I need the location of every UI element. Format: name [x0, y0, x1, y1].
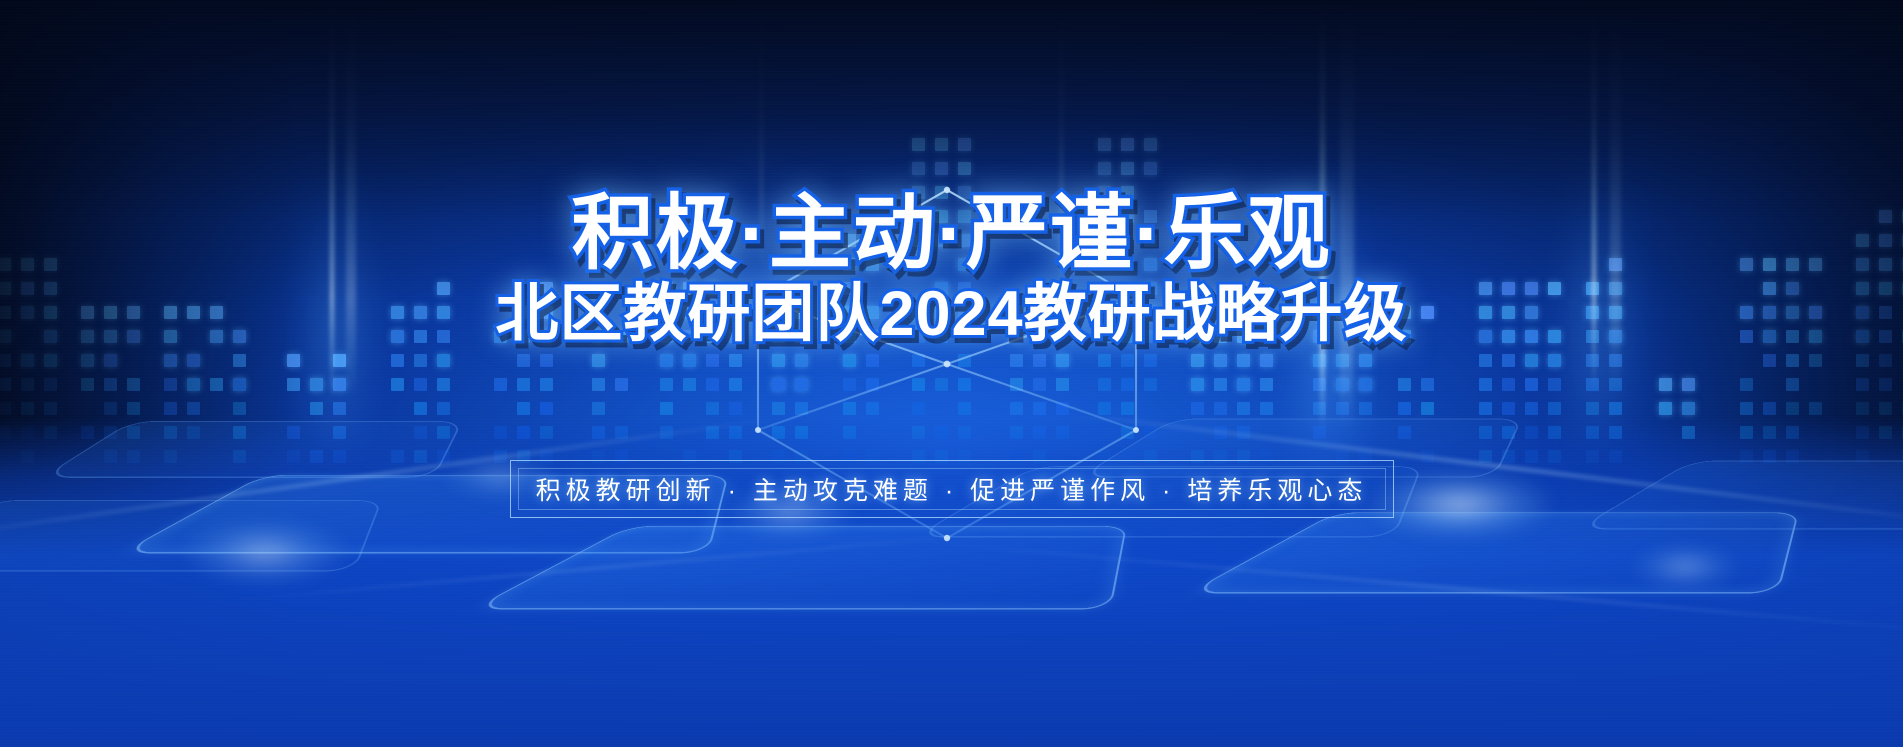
building-window — [1609, 306, 1622, 319]
building-window — [1809, 402, 1822, 415]
building-window — [1879, 330, 1892, 343]
building-window — [414, 306, 427, 319]
building-window — [706, 402, 719, 415]
building-window — [437, 282, 450, 295]
building-window — [1786, 258, 1799, 271]
building-window — [104, 354, 117, 367]
building-window — [391, 378, 404, 391]
building-window — [1056, 354, 1069, 367]
building-window — [0, 282, 11, 295]
building-window — [1479, 354, 1492, 367]
building-window — [414, 378, 427, 391]
building-window — [187, 306, 200, 319]
building-window — [1421, 378, 1434, 391]
building-window — [0, 258, 11, 271]
building-window — [660, 378, 673, 391]
building-window — [391, 330, 404, 343]
building-window — [1740, 258, 1753, 271]
building-window — [414, 354, 427, 367]
building-window — [1525, 402, 1538, 415]
building-window — [187, 354, 200, 367]
building-window — [414, 402, 427, 415]
building-window — [1010, 402, 1023, 415]
building-window — [1502, 378, 1515, 391]
building-window — [843, 402, 856, 415]
building-window — [958, 378, 971, 391]
building-window — [1313, 402, 1326, 415]
building-window — [706, 378, 719, 391]
building-window — [1479, 282, 1492, 295]
building-window — [164, 402, 177, 415]
building-window — [233, 402, 246, 415]
building-window — [310, 378, 323, 391]
building-window — [1609, 282, 1622, 295]
building-window — [1879, 234, 1892, 247]
building-window — [1659, 402, 1672, 415]
building-window — [1502, 330, 1515, 343]
building-window — [104, 402, 117, 415]
building-window — [21, 354, 34, 367]
building-window — [1313, 378, 1326, 391]
building-window — [1359, 354, 1372, 367]
building-window — [1237, 402, 1250, 415]
building-window — [843, 354, 856, 367]
building-window — [1313, 354, 1326, 367]
building-window — [540, 402, 553, 415]
building-window — [1010, 354, 1023, 367]
building-window — [414, 330, 427, 343]
building-window — [1548, 282, 1561, 295]
building-window — [164, 306, 177, 319]
building-window — [1010, 378, 1023, 391]
building-window — [935, 138, 948, 151]
building-window — [21, 282, 34, 295]
building-window — [1879, 282, 1892, 295]
building-window — [210, 306, 223, 319]
floor-plate — [1576, 461, 1903, 530]
building-window — [1763, 330, 1776, 343]
building-window — [21, 402, 34, 415]
building-window — [1121, 378, 1134, 391]
building-window — [866, 378, 879, 391]
building-window — [1144, 162, 1157, 175]
building-window — [1586, 402, 1599, 415]
building-window — [1586, 354, 1599, 367]
building-window — [1398, 378, 1411, 391]
building-window — [1502, 306, 1515, 319]
building-window — [540, 378, 553, 391]
building-window — [0, 306, 11, 319]
building-window — [1479, 402, 1492, 415]
building-window — [795, 378, 808, 391]
building-window — [1548, 354, 1561, 367]
building-window — [1856, 306, 1869, 319]
building-window — [1740, 306, 1753, 319]
building-window — [210, 330, 223, 343]
building-window — [437, 354, 450, 367]
building-window — [1856, 282, 1869, 295]
building-window — [1121, 402, 1134, 415]
building-window — [1763, 402, 1776, 415]
building-window — [1121, 162, 1134, 175]
building-window — [1525, 378, 1538, 391]
building-window — [233, 354, 246, 367]
building-window — [81, 330, 94, 343]
building-window — [1098, 138, 1111, 151]
building-window — [1659, 378, 1672, 391]
building-window — [21, 258, 34, 271]
building-window — [1809, 354, 1822, 367]
building-window — [1586, 306, 1599, 319]
building-window — [615, 378, 628, 391]
building-window — [44, 354, 57, 367]
building-window — [1121, 354, 1134, 367]
building-window — [21, 306, 34, 319]
building-window — [44, 282, 57, 295]
building-window — [772, 402, 785, 415]
building-window — [866, 402, 879, 415]
building-window — [1786, 378, 1799, 391]
building-window — [1502, 282, 1515, 295]
building-window — [104, 330, 117, 343]
building-window — [1144, 378, 1157, 391]
building-window — [866, 354, 879, 367]
building-window — [164, 330, 177, 343]
building-window — [1191, 378, 1204, 391]
building-window — [44, 306, 57, 319]
building-window — [1856, 330, 1869, 343]
building-window — [1809, 258, 1822, 271]
building-window — [437, 378, 450, 391]
building-window — [1033, 378, 1046, 391]
tagline-text: 积极教研创新 · 主动攻克难题 · 促进严谨作风 · 培养乐观心态 — [536, 471, 1368, 507]
building-window — [1786, 330, 1799, 343]
building-window — [729, 402, 742, 415]
building-window — [391, 354, 404, 367]
building-window — [1098, 162, 1111, 175]
building-window — [1786, 402, 1799, 415]
building-window — [0, 330, 11, 343]
sub-title: 北区教研团队2024教研战略升级 — [495, 283, 1407, 346]
building-window — [1033, 402, 1046, 415]
building-window — [310, 402, 323, 415]
building-window — [44, 378, 57, 391]
building-window — [1879, 258, 1892, 271]
building-window — [187, 402, 200, 415]
building-window — [127, 378, 140, 391]
building-window — [1525, 306, 1538, 319]
building-window — [333, 402, 346, 415]
building-window — [127, 330, 140, 343]
building-window — [1879, 402, 1892, 415]
building-window — [683, 354, 696, 367]
building-window — [935, 378, 948, 391]
building-window — [81, 378, 94, 391]
building-window — [1098, 402, 1111, 415]
building-window — [795, 402, 808, 415]
building-window — [210, 378, 223, 391]
building-window — [1421, 402, 1434, 415]
building-window — [127, 306, 140, 319]
tagline-frame: 积极教研创新 · 主动攻克难题 · 促进严谨作风 · 培养乐观心态 — [510, 460, 1394, 518]
building-window — [912, 378, 925, 391]
building-window — [104, 306, 117, 319]
building-window — [958, 354, 971, 367]
building-window — [1056, 402, 1069, 415]
building-window — [912, 138, 925, 151]
building-window — [1056, 378, 1069, 391]
building-window — [1214, 354, 1227, 367]
floor-plate — [41, 421, 463, 478]
building-window — [1548, 330, 1561, 343]
building-window — [1214, 402, 1227, 415]
building-window — [843, 378, 856, 391]
building-window — [1809, 306, 1822, 319]
building-window — [437, 306, 450, 319]
building-window — [1682, 378, 1695, 391]
building-window — [1098, 378, 1111, 391]
building-window — [1740, 378, 1753, 391]
building-window — [935, 162, 948, 175]
building-window — [1237, 378, 1250, 391]
building-window — [1191, 402, 1204, 415]
building-window — [1586, 282, 1599, 295]
building-window — [1260, 378, 1273, 391]
building-window — [287, 354, 300, 367]
building-window — [1763, 282, 1776, 295]
building-window — [1856, 354, 1869, 367]
building-window — [1525, 354, 1538, 367]
building-window — [729, 378, 742, 391]
building-window — [44, 258, 57, 271]
building-window — [1121, 138, 1134, 151]
building-window — [660, 402, 673, 415]
building-window — [1359, 402, 1372, 415]
building-window — [81, 306, 94, 319]
building-window — [1144, 138, 1157, 151]
building-window — [0, 402, 11, 415]
building-window — [1740, 330, 1753, 343]
building-window — [127, 402, 140, 415]
building-window — [1479, 330, 1492, 343]
building-window — [1740, 402, 1753, 415]
building-window — [1609, 258, 1622, 271]
building-window — [1856, 378, 1869, 391]
building-window — [1786, 282, 1799, 295]
building-window — [1586, 330, 1599, 343]
building-window — [81, 354, 94, 367]
building-window — [164, 378, 177, 391]
building-window — [958, 138, 971, 151]
building-window — [772, 354, 785, 367]
main-title: 积极·主动·严谨·乐观 — [572, 193, 1332, 275]
building-window — [592, 402, 605, 415]
building-window — [660, 354, 673, 367]
building-window — [1879, 354, 1892, 367]
building-window — [912, 162, 925, 175]
building-window — [1421, 306, 1434, 319]
building-window — [1479, 378, 1492, 391]
building-window — [517, 378, 530, 391]
building-window — [1586, 378, 1599, 391]
building-window — [21, 378, 34, 391]
building-window — [1336, 378, 1349, 391]
building-window — [517, 402, 530, 415]
building-window — [1856, 234, 1869, 247]
building-window — [1098, 354, 1111, 367]
building-window — [1879, 378, 1892, 391]
building-window — [1856, 258, 1869, 271]
building-window — [1502, 402, 1515, 415]
building-window — [0, 378, 11, 391]
building-window — [233, 330, 246, 343]
building-window — [958, 162, 971, 175]
building-window — [1879, 210, 1892, 223]
building-window — [772, 378, 785, 391]
building-window — [104, 378, 117, 391]
building-window — [44, 330, 57, 343]
building-window — [494, 378, 507, 391]
building-window — [1359, 378, 1372, 391]
building-window — [1525, 330, 1538, 343]
building-window — [187, 378, 200, 391]
building-window — [912, 402, 925, 415]
building-window — [164, 354, 177, 367]
building-window — [1609, 330, 1622, 343]
building-window — [1237, 354, 1250, 367]
building-window — [287, 378, 300, 391]
building-window — [391, 306, 404, 319]
building-window — [1809, 330, 1822, 343]
building-window — [44, 402, 57, 415]
building-window — [1609, 354, 1622, 367]
building-window — [683, 378, 696, 391]
building-window — [1682, 402, 1695, 415]
building-window — [1856, 402, 1869, 415]
building-window — [729, 354, 742, 367]
building-window — [1786, 306, 1799, 319]
building-window — [333, 378, 346, 391]
building-window — [592, 378, 605, 391]
building-window — [1260, 402, 1273, 415]
building-window — [1336, 354, 1349, 367]
building-window — [1336, 402, 1349, 415]
building-window — [592, 354, 605, 367]
building-window — [1879, 306, 1892, 319]
building-window — [1260, 354, 1273, 367]
building-window — [437, 330, 450, 343]
building-window — [540, 354, 553, 367]
building-window — [706, 354, 719, 367]
building-window — [1548, 402, 1561, 415]
building-window — [1398, 402, 1411, 415]
building-window — [1479, 306, 1492, 319]
building-window — [437, 402, 450, 415]
building-window — [912, 354, 925, 367]
building-window — [1548, 378, 1561, 391]
building-window — [1144, 354, 1157, 367]
building-window — [1786, 354, 1799, 367]
building-window — [1763, 258, 1776, 271]
building-window — [233, 378, 246, 391]
building-window — [1033, 354, 1046, 367]
building-window — [1609, 378, 1622, 391]
building-window — [795, 354, 808, 367]
building-window — [1763, 354, 1776, 367]
building-window — [517, 354, 530, 367]
building-window — [958, 402, 971, 415]
building-window — [1609, 402, 1622, 415]
building-window — [1525, 282, 1538, 295]
building-window — [1763, 306, 1776, 319]
building-window — [1214, 378, 1227, 391]
building-window — [1191, 354, 1204, 367]
building-window — [1502, 354, 1515, 367]
building-window — [333, 354, 346, 367]
banner-canvas: 积极·主动·严谨·乐观 北区教研团队2024教研战略升级 积极教研创新 · 主动… — [0, 0, 1903, 747]
building-window — [0, 354, 11, 367]
